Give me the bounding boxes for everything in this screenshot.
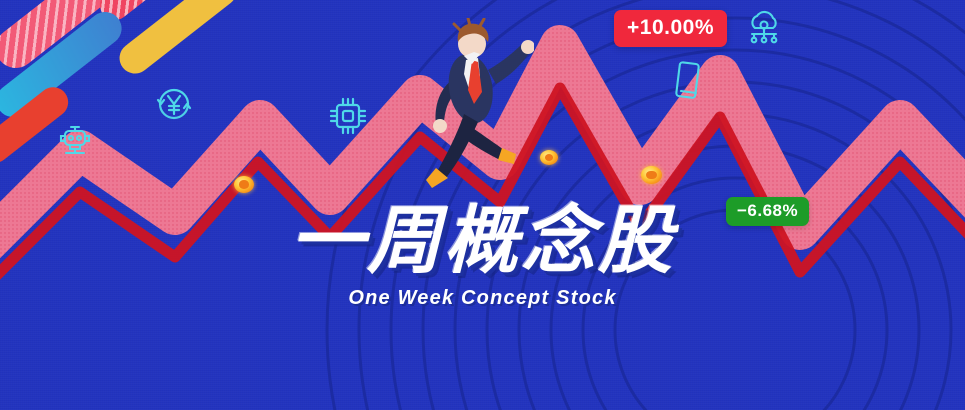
yuan-currency-icon [152, 82, 196, 126]
gain-badge: +10.00% [614, 10, 727, 47]
page-subtitle-en: One Week Concept Stock [0, 287, 965, 310]
gold-coin [234, 176, 254, 193]
page-title-cn: 一周概念股 [0, 204, 965, 278]
gold-coin [540, 150, 558, 165]
gold-coin [641, 166, 662, 184]
concentric-arc-decoration [325, 0, 965, 410]
cpu-chip-icon [325, 93, 371, 139]
title-block: 一周概念股 One Week Concept Stock [0, 204, 965, 310]
robot-icon [58, 124, 92, 160]
cloud-network-icon [742, 6, 786, 50]
loss-badge: −6.68% [726, 197, 809, 226]
decor-bar-yellow [113, 0, 242, 80]
promo-banner: + +10.00% −6.68% 一周概念股 One Week Concept … [0, 0, 965, 410]
smartphone-icon [672, 60, 702, 102]
running-businessman-illustration [404, 18, 534, 203]
